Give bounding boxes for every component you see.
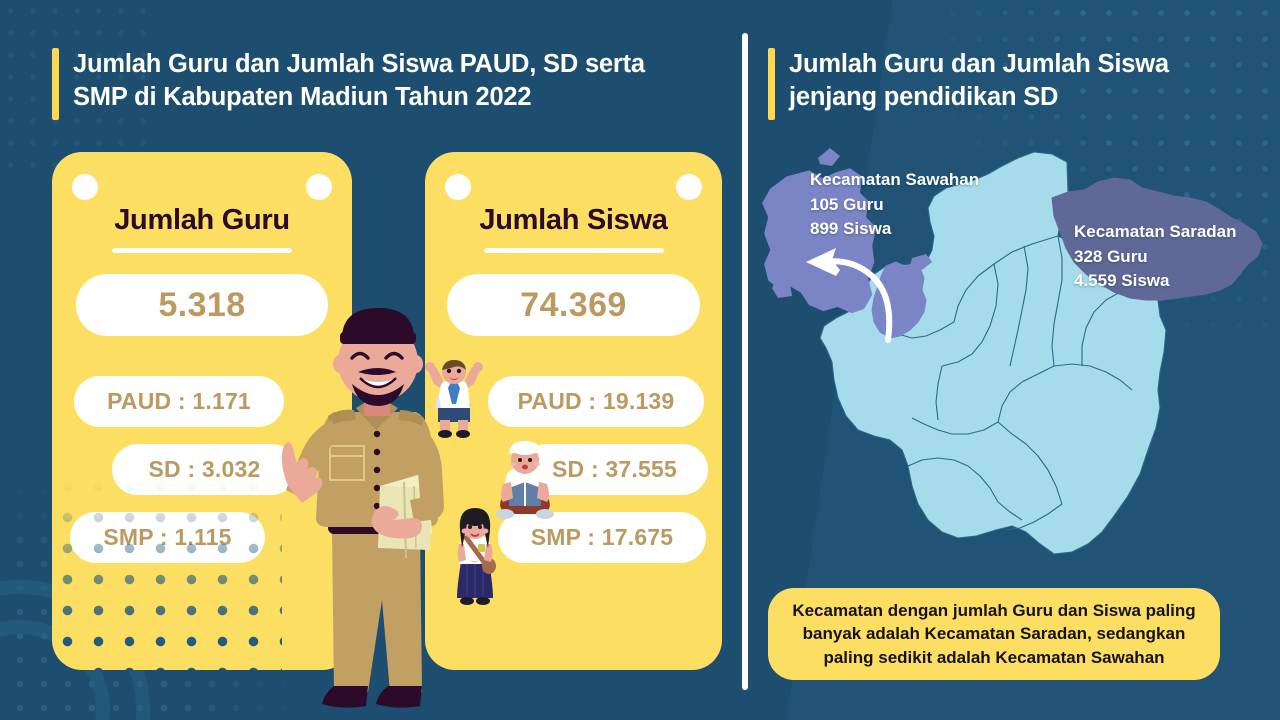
siswa-card-heading: Jumlah Siswa — [425, 204, 722, 237]
siswa-total-value: 74.369 — [447, 274, 700, 336]
guru-sd-value: SD : 3.032 — [112, 444, 297, 495]
card-jumlah-siswa: Jumlah Siswa 74.369 PAUD : 19.139 SD : 3… — [425, 152, 722, 670]
right-title: Jumlah Guru dan Jumlah Siswa jenjang pen… — [768, 48, 1238, 120]
punch-hole-icon — [306, 174, 332, 200]
guru-card-underline — [112, 248, 292, 253]
guru-total-value: 5.318 — [76, 274, 328, 336]
card-jumlah-guru: Jumlah Guru 5.318 PAUD : 1.171 SD : 3.03… — [52, 152, 352, 670]
siswa-sd-value: SD : 37.555 — [521, 444, 708, 495]
vertical-divider — [742, 33, 748, 690]
guru-card-heading: Jumlah Guru — [52, 204, 352, 237]
siswa-card-underline — [484, 248, 664, 253]
map-label-sawahan: Kecamatan Sawahan 105 Guru 899 Siswa — [810, 168, 979, 242]
left-title: Jumlah Guru dan Jumlah Siswa PAUD, SD se… — [52, 48, 712, 120]
siswa-smp-value: SMP : 17.675 — [498, 512, 706, 563]
title-accent-bar — [768, 48, 775, 120]
punch-hole-icon — [72, 174, 98, 200]
siswa-paud-value: PAUD : 19.139 — [488, 376, 704, 427]
punch-hole-icon — [676, 174, 702, 200]
guru-paud-value: PAUD : 1.171 — [74, 376, 284, 427]
map-caption: Kecamatan dengan jumlah Guru dan Siswa p… — [768, 588, 1220, 680]
guru-smp-value: SMP : 1.115 — [70, 512, 265, 563]
punch-hole-icon — [445, 174, 471, 200]
title-accent-bar — [52, 48, 59, 120]
right-title-text: Jumlah Guru dan Jumlah Siswa jenjang pen… — [789, 48, 1169, 113]
map-label-saradan: Kecamatan Saradan 328 Guru 4.559 Siswa — [1074, 220, 1237, 294]
left-title-text: Jumlah Guru dan Jumlah Siswa PAUD, SD se… — [73, 48, 645, 113]
infographic-canvas: Jumlah Guru dan Jumlah Siswa PAUD, SD se… — [0, 0, 1280, 720]
